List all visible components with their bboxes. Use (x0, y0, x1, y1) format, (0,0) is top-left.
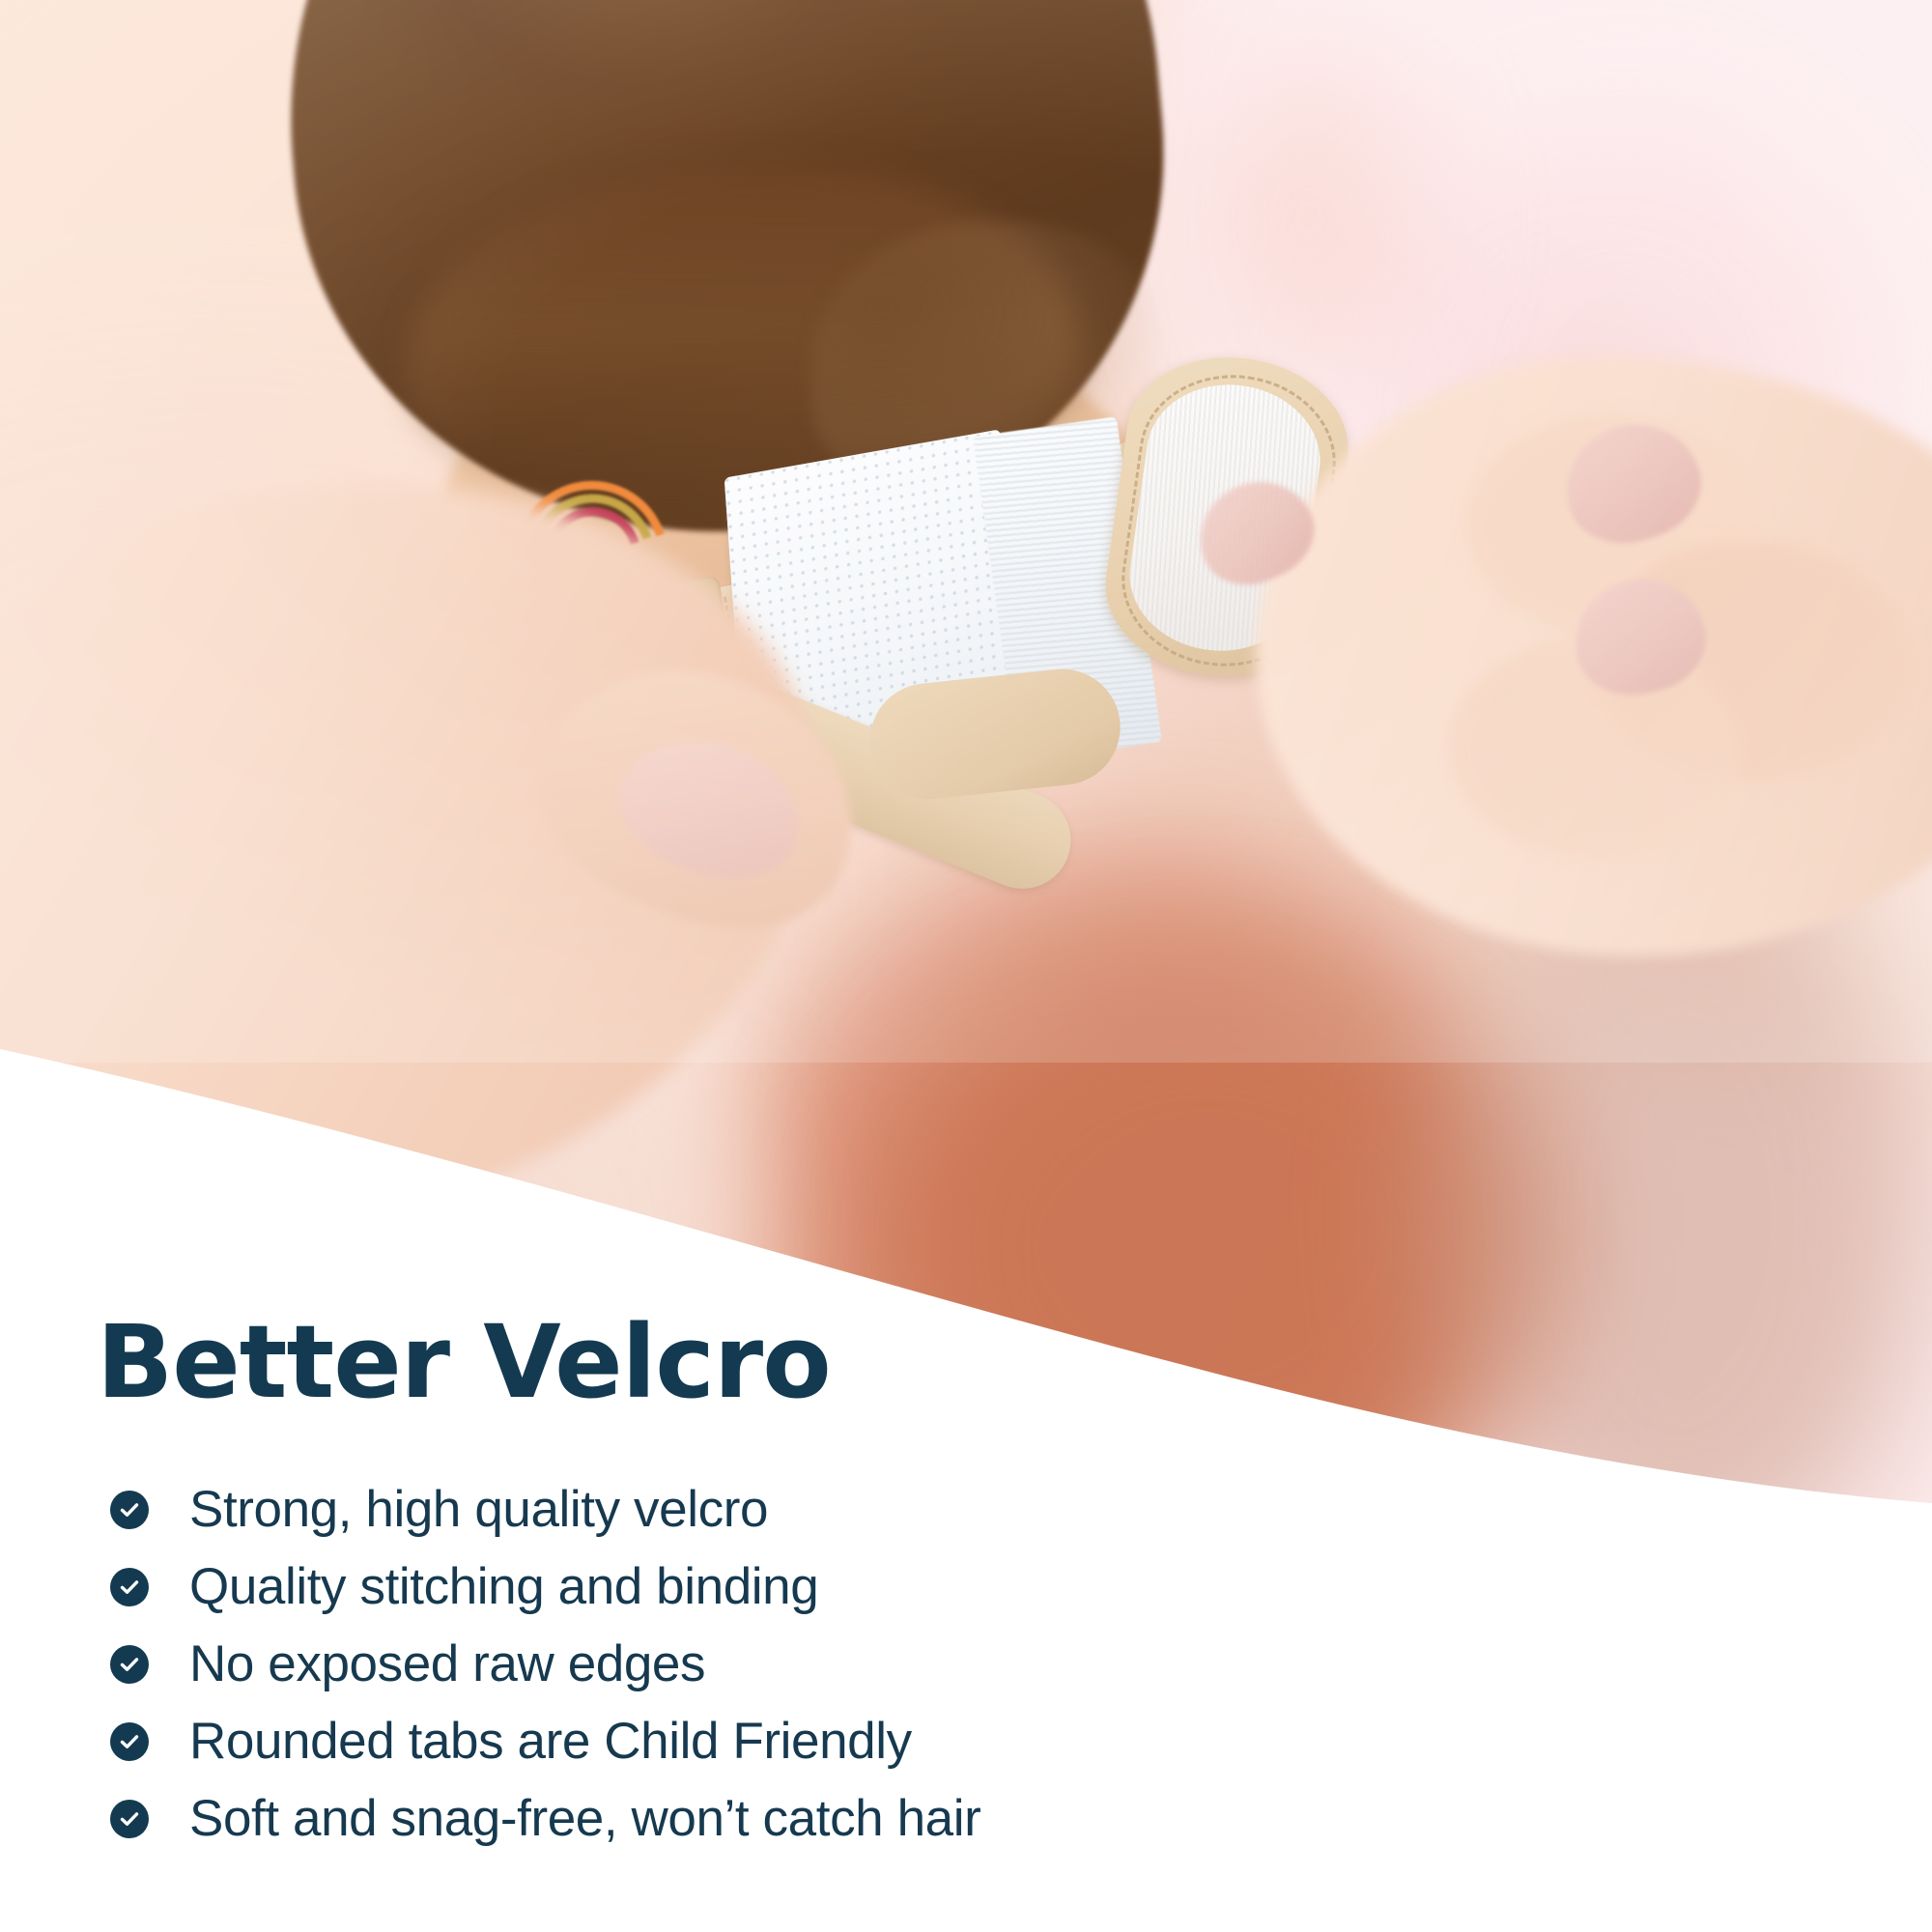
list-item: Rounded tabs are Child Friendly (110, 1714, 1352, 1770)
list-item: No exposed raw edges (110, 1636, 1352, 1692)
list-item-label: No exposed raw edges (189, 1636, 705, 1691)
product-feature-poster: Better Velcro Strong, high quality velcr… (0, 0, 1932, 1932)
page-title: Better Velcro (97, 1312, 1352, 1412)
list-item-label: Rounded tabs are Child Friendly (189, 1714, 912, 1769)
list-item-label: Quality stitching and binding (189, 1559, 818, 1614)
feature-content: Better Velcro Strong, high quality velcr… (97, 1312, 1352, 1868)
list-item: Quality stitching and binding (110, 1559, 1352, 1615)
list-item-label: Soft and snag-free, won’t catch hair (189, 1791, 980, 1846)
check-circle-icon (110, 1491, 149, 1529)
check-circle-icon (110, 1800, 149, 1838)
list-item: Strong, high quality velcro (110, 1482, 1352, 1538)
feature-list: Strong, high quality velcro Quality stit… (110, 1482, 1352, 1847)
check-circle-icon (110, 1645, 149, 1684)
check-circle-icon (110, 1722, 149, 1761)
list-item-label: Strong, high quality velcro (189, 1482, 768, 1537)
check-circle-icon (110, 1568, 149, 1606)
list-item: Soft and snag-free, won’t catch hair (110, 1791, 1352, 1847)
